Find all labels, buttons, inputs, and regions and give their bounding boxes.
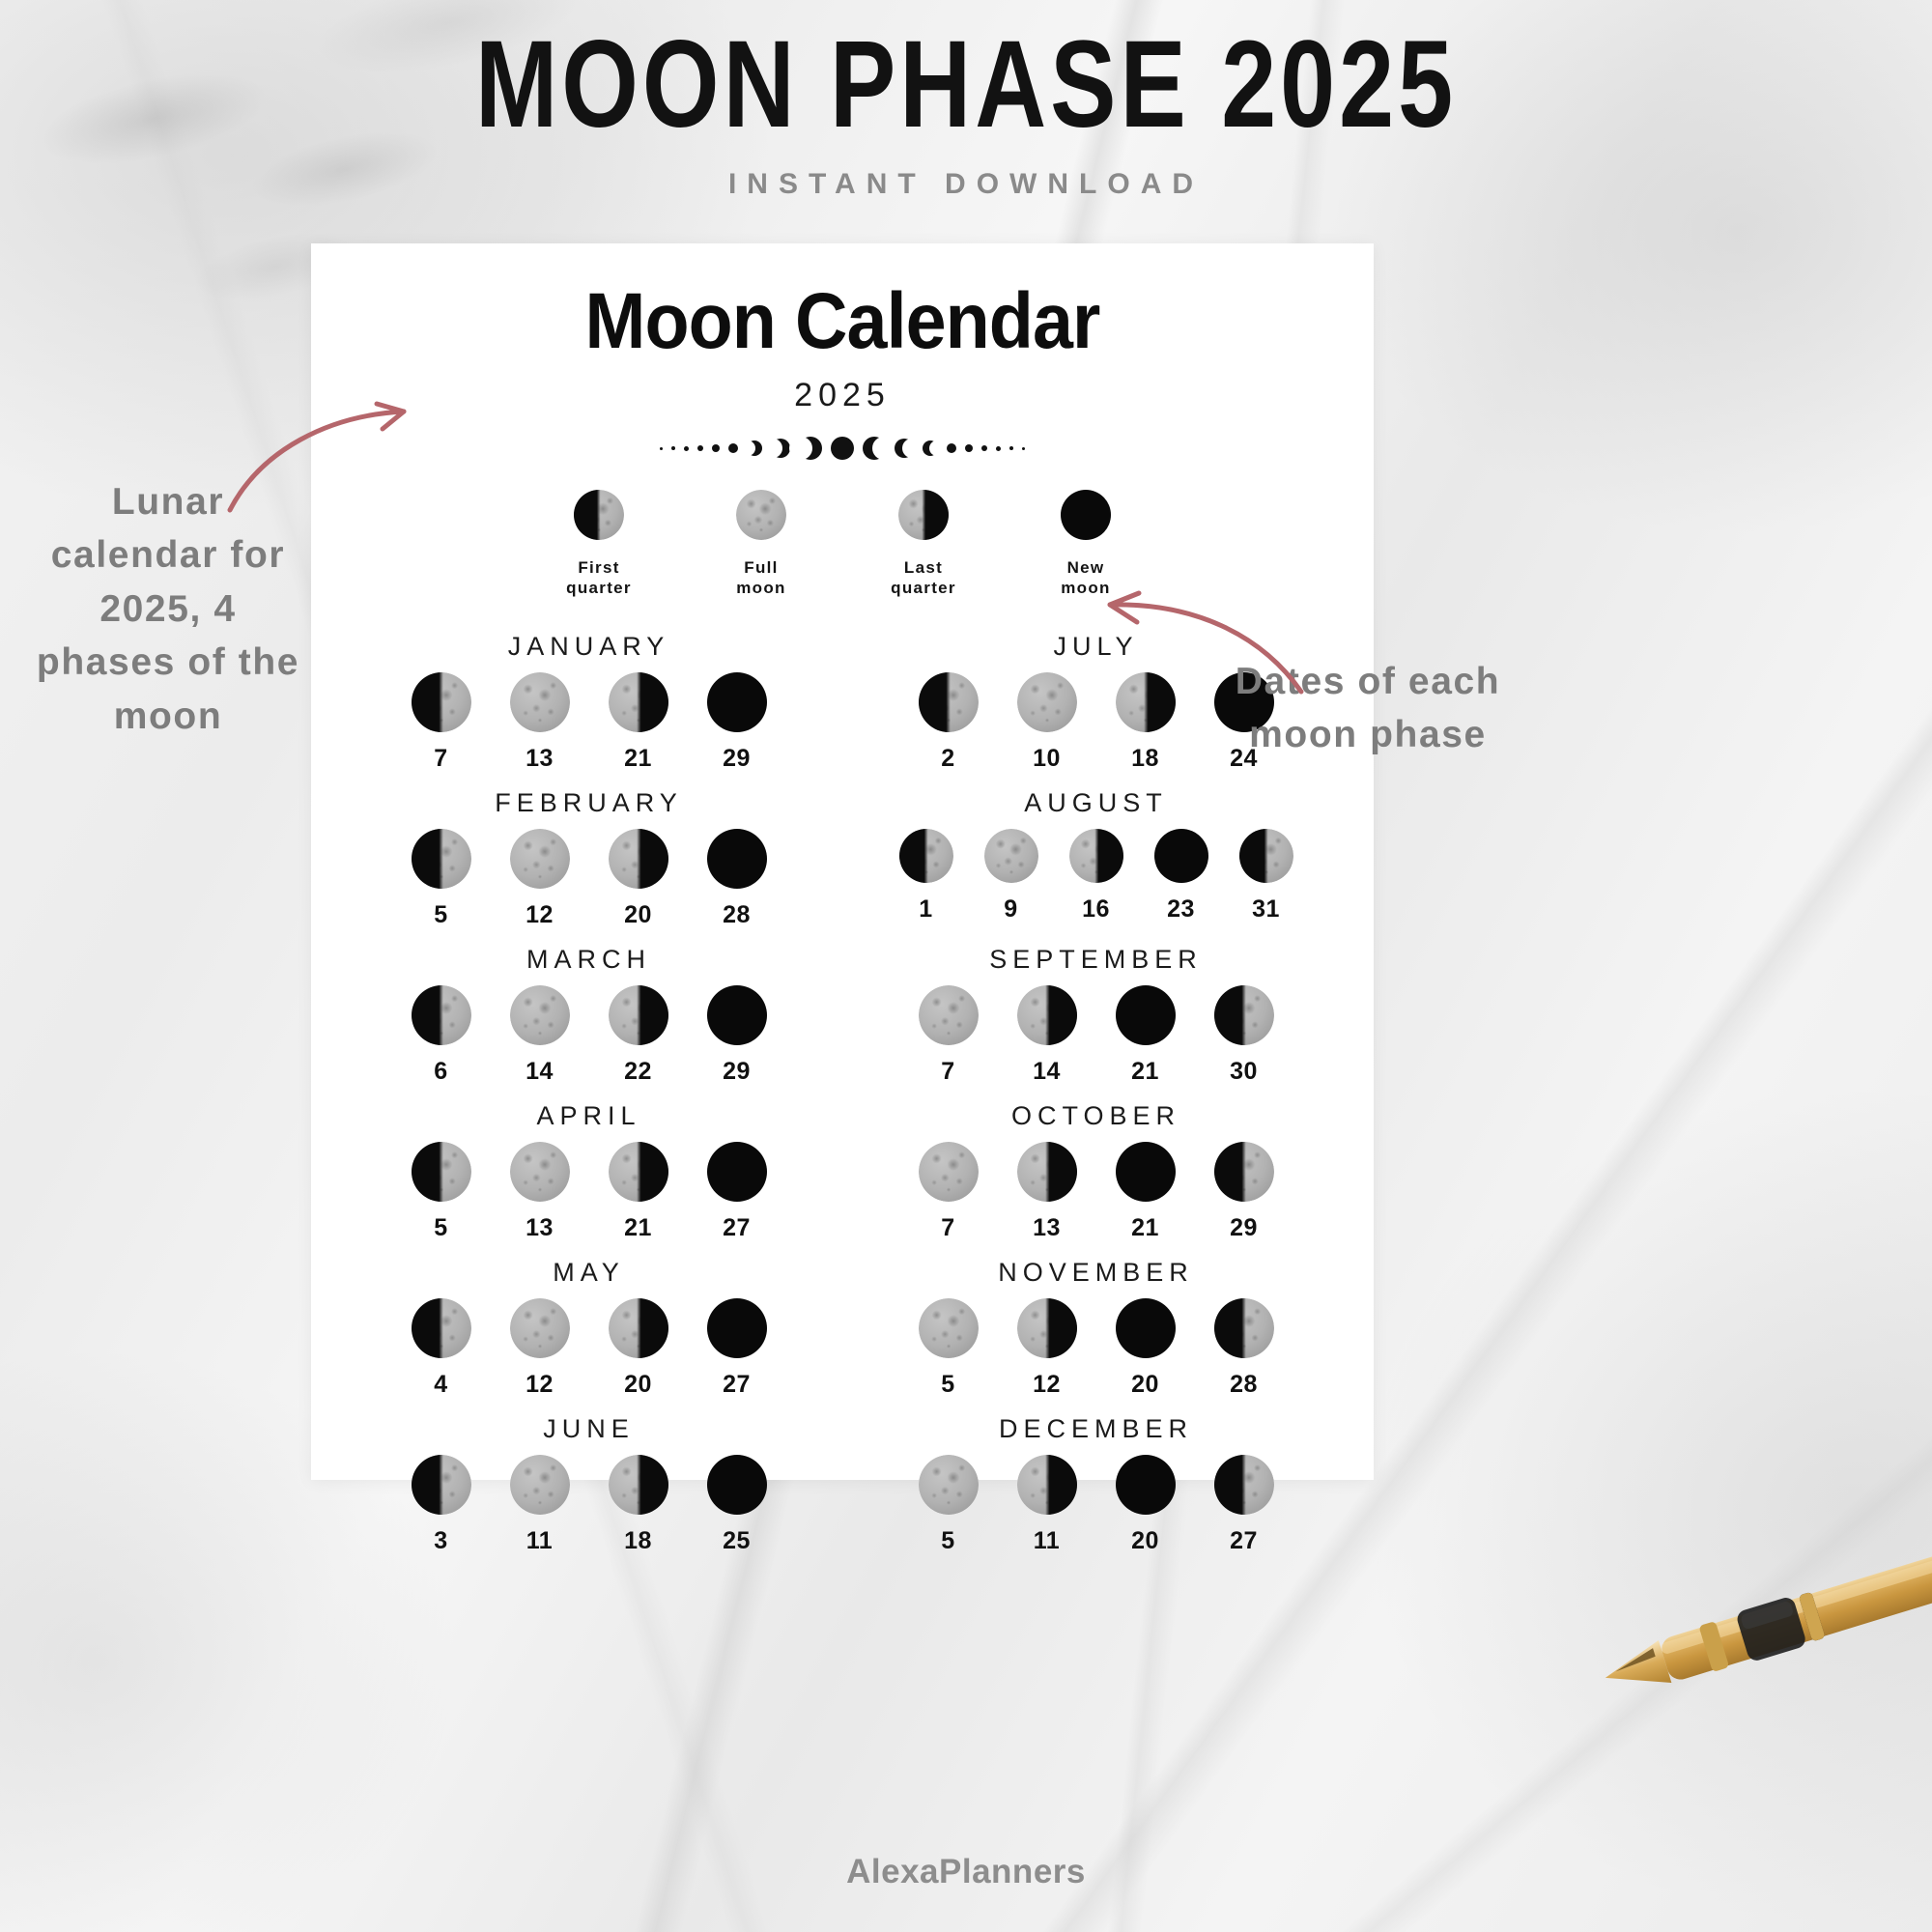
full-moon-icon (510, 829, 570, 889)
full-moon-icon (510, 1455, 570, 1515)
phase-date: 10 (1011, 745, 1083, 773)
phase-cell: 23 (1146, 829, 1217, 923)
phase-date: 9 (976, 895, 1047, 923)
phase-cell: 28 (701, 829, 773, 929)
moon-surface (919, 1298, 979, 1358)
page-subtitle: INSTANT DOWNLOAD (0, 168, 1932, 201)
moon-shadow (412, 1455, 471, 1515)
strip-crescent-left-icon (863, 437, 886, 460)
moon-surface (919, 985, 979, 1045)
moon-shadow (412, 672, 471, 732)
phase-date: 5 (913, 1371, 984, 1399)
month-name: MAY (363, 1258, 814, 1288)
phase-cell: 7 (913, 985, 984, 1086)
phase-date: 18 (603, 1527, 674, 1555)
last-moon-icon (1017, 985, 1077, 1045)
last-moon-icon (898, 490, 949, 540)
month-name: NOVEMBER (870, 1258, 1321, 1288)
moon-shadow (1214, 1142, 1274, 1202)
full-moon-icon (736, 490, 786, 540)
first-moon-icon (412, 1142, 471, 1202)
strip-dot-icon (1009, 446, 1013, 450)
phase-cell: 14 (504, 985, 576, 1086)
phase-cell: 1 (891, 829, 962, 923)
phase-cell: 21 (1110, 1142, 1181, 1242)
phase-cell: 29 (701, 672, 773, 773)
phase-date: 21 (1110, 1214, 1181, 1242)
phase-cell: 18 (603, 1455, 674, 1555)
strip-dot-icon (947, 443, 956, 453)
decorative-phase-strip (363, 432, 1321, 465)
new-moon-icon (1116, 985, 1176, 1045)
phase-cell: 13 (1011, 1142, 1083, 1242)
phase-cell: 4 (406, 1298, 477, 1399)
moon-shadow (707, 1298, 767, 1358)
full-moon-icon (1017, 672, 1077, 732)
phase-cell: 11 (1011, 1455, 1083, 1555)
moon-shadow (919, 672, 979, 732)
strip-crescent-left-icon (895, 439, 914, 458)
strip-dot-icon (660, 447, 663, 450)
phase-date: 31 (1231, 895, 1302, 923)
new-moon-icon (1116, 1142, 1176, 1202)
phase-date: 29 (701, 745, 773, 773)
first-moon-icon (412, 985, 471, 1045)
phase-cell: 13 (504, 672, 576, 773)
month-phase-row: 5122028 (363, 829, 814, 929)
phase-cell: 21 (603, 672, 674, 773)
moon-shadow (707, 829, 767, 889)
moon-shadow (707, 1455, 767, 1515)
moon-shadow (609, 829, 668, 889)
phase-date: 4 (406, 1371, 477, 1399)
first-moon-icon (919, 672, 979, 732)
phase-cell: 20 (1110, 1455, 1181, 1555)
phase-cell: 13 (504, 1142, 576, 1242)
month-phase-row: 5122028 (870, 1298, 1321, 1399)
full-moon-icon (919, 985, 979, 1045)
strip-crescent-right-icon (771, 439, 790, 458)
legend-item-first: Firstquarter (546, 490, 652, 599)
new-moon-icon (707, 1142, 767, 1202)
month-name: OCTOBER (870, 1101, 1321, 1131)
phase-date: 14 (1011, 1058, 1083, 1086)
phase-cell: 20 (603, 829, 674, 929)
phase-date: 28 (1208, 1371, 1280, 1399)
poster-card: Moon Calendar 2025 FirstquarterFullmoonL… (311, 243, 1374, 1480)
full-moon-icon (510, 985, 570, 1045)
month-block-may: MAY4122027 (363, 1258, 814, 1399)
month-name: MARCH (363, 945, 814, 975)
moon-shadow (1061, 490, 1111, 540)
moon-surface (736, 490, 786, 540)
phase-cell: 5 (406, 829, 477, 929)
phase-date: 18 (1110, 745, 1181, 773)
phase-date: 5 (406, 1214, 477, 1242)
phase-date: 30 (1208, 1058, 1280, 1086)
full-moon-icon (510, 672, 570, 732)
new-moon-icon (707, 1298, 767, 1358)
phase-date: 21 (603, 1214, 674, 1242)
phase-date: 21 (1110, 1058, 1181, 1086)
month-block-april: APRIL5132127 (363, 1101, 814, 1242)
last-moon-icon (1116, 672, 1176, 732)
month-phase-row: 3111825 (363, 1455, 814, 1555)
moon-surface (919, 1455, 979, 1515)
phase-cell: 31 (1231, 829, 1302, 923)
moon-shadow (412, 829, 471, 889)
phase-cell: 2 (913, 672, 984, 773)
legend-item-new: Newmoon (1033, 490, 1139, 599)
moon-shadow (1017, 1298, 1077, 1358)
phase-date: 22 (603, 1058, 674, 1086)
annotation-left: Lunar calendar for 2025, 4 phases of the… (33, 475, 303, 743)
first-moon-icon (899, 829, 953, 883)
full-moon-icon (510, 1142, 570, 1202)
legend-label: Fullmoon (708, 557, 814, 599)
phase-date: 6 (406, 1058, 477, 1086)
first-moon-icon (1239, 829, 1293, 883)
strip-dot-icon (671, 446, 675, 450)
moon-shadow (609, 1142, 668, 1202)
phase-date: 12 (504, 1371, 576, 1399)
phase-date: 11 (504, 1527, 576, 1555)
moon-surface (510, 1298, 570, 1358)
phase-cell: 21 (603, 1142, 674, 1242)
month-phase-row: 4122027 (363, 1298, 814, 1399)
moon-surface (510, 1455, 570, 1515)
phase-date: 29 (1208, 1214, 1280, 1242)
phase-date: 25 (701, 1527, 773, 1555)
moon-shadow (1214, 1298, 1274, 1358)
first-moon-icon (1214, 1455, 1274, 1515)
phase-cell: 16 (1061, 829, 1132, 923)
last-moon-icon (609, 1142, 668, 1202)
new-moon-icon (707, 1455, 767, 1515)
new-moon-icon (707, 985, 767, 1045)
moon-shadow (609, 985, 668, 1045)
moon-surface (1017, 672, 1077, 732)
phase-date: 23 (1146, 895, 1217, 923)
month-name: JUNE (363, 1414, 814, 1444)
moon-shadow (609, 672, 668, 732)
month-block-september: SEPTEMBER7142130 (870, 945, 1321, 1086)
strip-crescent-right-icon (747, 440, 762, 456)
moon-shadow (1069, 829, 1123, 883)
phase-cell: 6 (406, 985, 477, 1086)
new-moon-icon (707, 829, 767, 889)
month-block-june: JUNE3111825 (363, 1414, 814, 1555)
moon-shadow (1017, 1142, 1077, 1202)
phase-cell: 12 (1011, 1298, 1083, 1399)
month-block-august: AUGUST19162331 (870, 788, 1321, 929)
moon-shadow (898, 490, 949, 540)
phase-cell: 14 (1011, 985, 1083, 1086)
annotation-right: Dates of each moon phase (1225, 655, 1511, 762)
phase-date: 20 (1110, 1371, 1181, 1399)
phase-date: 20 (1110, 1527, 1181, 1555)
month-block-november: NOVEMBER5122028 (870, 1258, 1321, 1399)
phase-cell: 7 (406, 672, 477, 773)
phase-date: 20 (603, 1371, 674, 1399)
month-phase-row: 5132127 (363, 1142, 814, 1242)
moon-shadow (1116, 1455, 1176, 1515)
new-moon-icon (1116, 1455, 1176, 1515)
strip-crescent-right-icon (799, 437, 822, 460)
month-phase-row: 6142229 (363, 985, 814, 1086)
phase-date: 20 (603, 901, 674, 929)
first-moon-icon (1214, 1298, 1274, 1358)
phase-cell: 7 (913, 1142, 984, 1242)
phase-date: 7 (406, 745, 477, 773)
phase-date: 12 (504, 901, 576, 929)
strip-dot-icon (728, 443, 738, 453)
phase-cell: 21 (1110, 985, 1181, 1086)
phase-date: 2 (913, 745, 984, 773)
phase-cell: 11 (504, 1455, 576, 1555)
first-moon-icon (574, 490, 624, 540)
phase-date: 7 (913, 1058, 984, 1086)
first-moon-icon (1214, 985, 1274, 1045)
last-moon-icon (609, 985, 668, 1045)
phase-date: 27 (701, 1214, 773, 1242)
months-grid: JANUARY7132129JULY2101824FEBRUARY5122028… (363, 632, 1321, 1555)
moon-shadow (1116, 985, 1176, 1045)
full-moon-icon (919, 1298, 979, 1358)
new-moon-icon (1061, 490, 1111, 540)
new-moon-icon (1116, 1298, 1176, 1358)
phase-date: 3 (406, 1527, 477, 1555)
phase-date: 11 (1011, 1527, 1083, 1555)
phase-cell: 25 (701, 1455, 773, 1555)
last-moon-icon (609, 1455, 668, 1515)
moon-surface (510, 1142, 570, 1202)
new-moon-icon (1154, 829, 1208, 883)
strip-dot-icon (981, 445, 987, 451)
phase-date: 29 (701, 1058, 773, 1086)
legend-label: Firstquarter (546, 557, 652, 599)
strip-dot-icon (684, 446, 689, 451)
phase-cell: 18 (1110, 672, 1181, 773)
strip-crescent-left-icon (923, 440, 938, 456)
strip-dot-icon (697, 445, 703, 451)
moon-shadow (609, 1455, 668, 1515)
month-phase-row: 7132129 (363, 672, 814, 773)
month-name: SEPTEMBER (870, 945, 1321, 975)
phase-date: 16 (1061, 895, 1132, 923)
phase-cell: 3 (406, 1455, 477, 1555)
phase-legend: FirstquarterFullmoonLastquarterNewmoon (363, 490, 1321, 599)
phase-date: 21 (603, 745, 674, 773)
phase-cell: 9 (976, 829, 1047, 923)
footer-brand: AlexaPlanners (0, 1853, 1932, 1891)
headline-block: MOON PHASE 2025 INSTANT DOWNLOAD (0, 23, 1932, 201)
month-name: APRIL (363, 1101, 814, 1131)
strip-dot-icon (712, 444, 720, 452)
month-phase-row: 7132129 (870, 1142, 1321, 1242)
moon-shadow (1017, 985, 1077, 1045)
moon-shadow (1116, 672, 1176, 732)
phase-date: 28 (701, 901, 773, 929)
month-name: JANUARY (363, 632, 814, 662)
poster-title: Moon Calendar (402, 282, 1284, 361)
last-moon-icon (1017, 1298, 1077, 1358)
full-moon-icon (984, 829, 1038, 883)
moon-surface (510, 829, 570, 889)
month-name: FEBRUARY (363, 788, 814, 818)
moon-shadow (1214, 1455, 1274, 1515)
full-moon-icon (510, 1298, 570, 1358)
moon-shadow (707, 1142, 767, 1202)
moon-shadow (1214, 985, 1274, 1045)
moon-shadow (412, 1298, 471, 1358)
phase-cell: 5 (913, 1298, 984, 1399)
phase-cell: 5 (406, 1142, 477, 1242)
moon-shadow (1116, 1298, 1176, 1358)
strip-full-moon-icon (831, 437, 854, 460)
phase-date: 14 (504, 1058, 576, 1086)
phase-cell: 20 (603, 1298, 674, 1399)
month-block-march: MARCH6142229 (363, 945, 814, 1086)
month-name: DECEMBER (870, 1414, 1321, 1444)
legend-item-full: Fullmoon (708, 490, 814, 599)
last-moon-icon (1017, 1455, 1077, 1515)
phase-cell: 12 (504, 829, 576, 929)
phase-cell: 20 (1110, 1298, 1181, 1399)
page-title: MOON PHASE 2025 (193, 23, 1739, 147)
phase-cell: 27 (701, 1142, 773, 1242)
moon-shadow (707, 985, 767, 1045)
moon-shadow (609, 1298, 668, 1358)
phase-cell: 5 (913, 1455, 984, 1555)
phase-cell: 29 (1208, 1142, 1280, 1242)
phase-cell: 10 (1011, 672, 1083, 773)
phase-cell: 22 (603, 985, 674, 1086)
month-block-february: FEBRUARY5122028 (363, 788, 814, 929)
month-block-january: JANUARY7132129 (363, 632, 814, 773)
moon-surface (919, 1142, 979, 1202)
legend-label: Lastquarter (870, 557, 977, 599)
phase-date: 12 (1011, 1371, 1083, 1399)
phase-date: 27 (1208, 1527, 1280, 1555)
month-name: AUGUST (870, 788, 1321, 818)
month-phase-row: 7142130 (870, 985, 1321, 1086)
first-moon-icon (1214, 1142, 1274, 1202)
moon-shadow (574, 490, 624, 540)
phase-date: 27 (701, 1371, 773, 1399)
phase-date: 5 (913, 1527, 984, 1555)
last-moon-icon (609, 672, 668, 732)
phase-cell: 27 (701, 1298, 773, 1399)
month-phase-row: 19162331 (870, 829, 1321, 923)
full-moon-icon (919, 1142, 979, 1202)
poster-year: 2025 (363, 377, 1321, 414)
last-moon-icon (1069, 829, 1123, 883)
first-moon-icon (412, 672, 471, 732)
phase-date: 13 (504, 745, 576, 773)
phase-cell: 28 (1208, 1298, 1280, 1399)
moon-surface (984, 829, 1038, 883)
last-moon-icon (609, 829, 668, 889)
phase-date: 7 (913, 1214, 984, 1242)
legend-label: Newmoon (1033, 557, 1139, 599)
moon-surface (510, 985, 570, 1045)
last-moon-icon (609, 1298, 668, 1358)
new-moon-icon (707, 672, 767, 732)
phase-cell: 27 (1208, 1455, 1280, 1555)
last-moon-icon (1017, 1142, 1077, 1202)
gold-pen-decoration (1555, 1497, 1932, 1787)
phase-date: 13 (504, 1214, 576, 1242)
moon-shadow (707, 672, 767, 732)
moon-shadow (899, 829, 953, 883)
month-block-december: DECEMBER5112027 (870, 1414, 1321, 1555)
first-moon-icon (412, 1298, 471, 1358)
month-block-october: OCTOBER7132129 (870, 1101, 1321, 1242)
phase-date: 13 (1011, 1214, 1083, 1242)
moon-shadow (412, 985, 471, 1045)
strip-dot-icon (965, 444, 973, 452)
moon-shadow (1017, 1455, 1077, 1515)
moon-shadow (1239, 829, 1293, 883)
legend-item-last: Lastquarter (870, 490, 977, 599)
full-moon-icon (919, 1455, 979, 1515)
moon-shadow (1154, 829, 1208, 883)
month-phase-row: 5112027 (870, 1455, 1321, 1555)
strip-dot-icon (1022, 447, 1025, 450)
first-moon-icon (412, 829, 471, 889)
moon-surface (510, 672, 570, 732)
phase-date: 5 (406, 901, 477, 929)
moon-shadow (412, 1142, 471, 1202)
phase-date: 1 (891, 895, 962, 923)
phase-cell: 12 (504, 1298, 576, 1399)
moon-shadow (1116, 1142, 1176, 1202)
first-moon-icon (412, 1455, 471, 1515)
phase-cell: 29 (701, 985, 773, 1086)
strip-dot-icon (996, 446, 1001, 451)
phase-cell: 30 (1208, 985, 1280, 1086)
